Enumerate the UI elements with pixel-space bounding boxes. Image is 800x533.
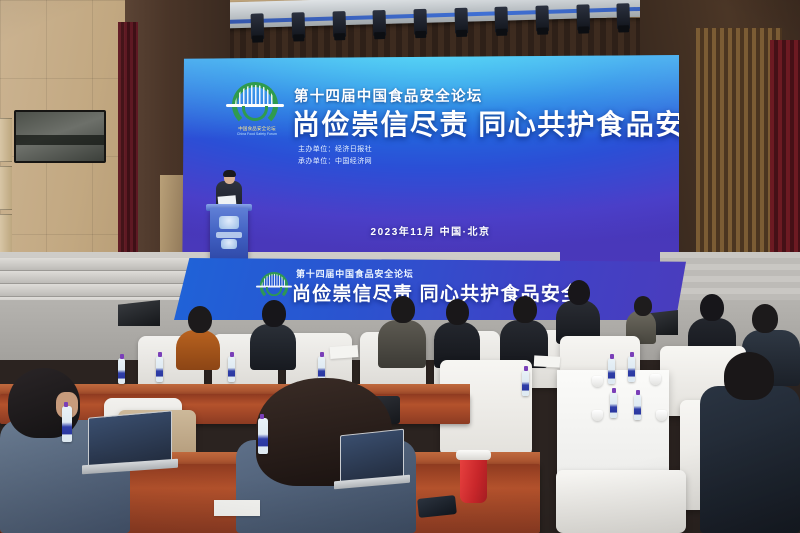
water-bottle-t4 [634,394,641,420]
person-back-1-head [188,306,212,333]
forum-logo: 中国食品安全论坛 China Food Safety Forum [226,82,288,140]
person-back-7-head [700,294,724,321]
water-bottle-d5 [522,370,529,396]
ceiling-light-icon [292,12,306,38]
podium-emblem-lower-icon [221,239,237,249]
ceiling-light-icon [413,9,427,35]
podium [210,208,248,260]
ceiling-light-icon [576,4,590,30]
banner-logo-icon [256,272,294,302]
person-back-4-head [446,299,469,325]
smartphone-on-desk [417,495,457,518]
water-bottle-d3 [228,356,235,382]
ceiling-light-icon [495,7,509,33]
conference-hall-photo: 中国食品安全论坛 China Food Safety Forum 第十四届中国食… [0,0,800,533]
person-right-foreground-body [700,386,800,533]
water-bottle-t1 [608,358,615,384]
water-bottle-d1 [118,358,125,384]
ceiling-light-icon [535,5,549,31]
organizer-line-1: 主办单位：经济日报社 [298,144,372,156]
person-back-8-head [752,304,778,333]
teacup-t4 [656,410,667,421]
speaker-hair [223,170,236,177]
podium-nameplate [216,232,242,238]
person-back-3-head [391,296,415,323]
person-back-9-head [634,296,652,316]
wall-trim-1 [0,118,12,162]
water-bottle-t2 [628,356,635,382]
person-back-1-body [176,330,220,370]
screen-main-title: 尚俭崇信尽责 同心共护食品安全 [292,103,679,143]
water-bottle-f2 [258,418,268,454]
teacup-t3 [592,410,603,421]
screen-date-location: 2023年11月 中国·北京 [182,223,679,238]
person-back-2-head [262,300,286,327]
person-back-5-head [513,296,537,323]
teacup-t1 [592,376,603,387]
water-bottle-f1 [62,406,72,442]
water-bottle-t3 [610,392,617,418]
person-back-2-body [250,324,296,370]
coffee-cup-lid [456,450,491,460]
banner-main-title: 尚俭崇信尽责 同心共护食品安全 [292,279,581,306]
person-back-3-body [378,320,426,368]
red-coffee-cup [460,455,487,503]
papers-on-desk-2 [534,355,561,367]
wall-trim-2 [0,166,12,210]
papers-on-desk-1 [330,345,359,359]
ceiling-light-icon [332,11,346,37]
lower-led-banner: 第十四届中国食品安全论坛 尚俭崇信尽责 同心共护食品安全 [174,258,686,320]
teacup-t2 [650,374,661,385]
ceiling-light-icon [251,13,265,39]
ceiling-light-icon [617,3,631,29]
armchair-foreground [556,470,686,533]
forum-emblem-icon [226,82,284,124]
screen-organizers: 主办单位：经济日报社 承办单位：中国经济网 [298,144,372,169]
water-bottle-d2 [156,356,163,382]
ceiling-light-icon [454,8,468,34]
person-back-6-head [568,280,590,305]
ceiling-light-icon [373,10,387,36]
wall-monitor-icon [14,110,106,163]
logo-name-en: China Food Safety Forum [226,132,288,136]
organizer-line-2: 承办单位：中国经济网 [298,156,372,168]
papers-front [214,500,260,516]
podium-emblem-icon [219,216,239,229]
person-right-foreground-head [724,352,774,400]
